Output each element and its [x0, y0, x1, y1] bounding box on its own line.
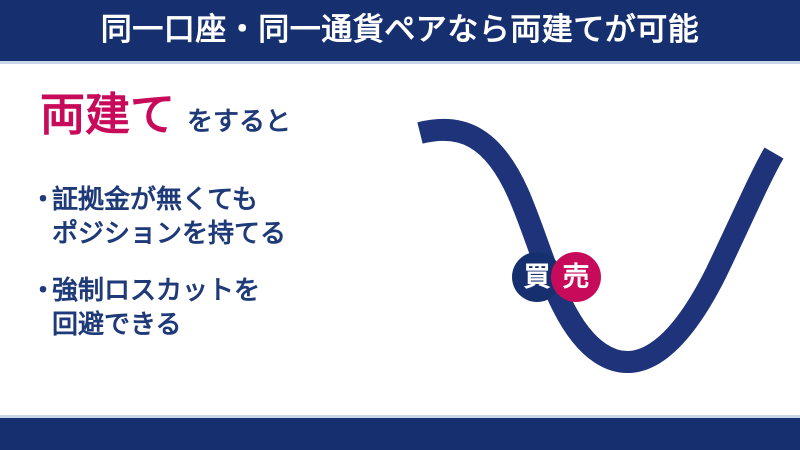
sell-badge-label: 売 [563, 264, 590, 291]
bullet-marker-icon: ・ [30, 274, 52, 308]
lead-heading: 両建て をすると [40, 92, 291, 137]
price-wave-svg [400, 105, 800, 395]
slide-canvas: 同一口座・同一通貨ペアなら両建てが可能 両建て をすると ・ 証拠金が無くても … [0, 0, 800, 450]
header-underline-rule [0, 61, 800, 64]
price-wave-diagram [400, 105, 800, 395]
buy-badge-label: 買 [524, 264, 551, 291]
bullet-text-line: 回避できる [52, 308, 260, 342]
lead-highlight-text: 両建て [40, 92, 175, 137]
price-wave-path [420, 130, 774, 362]
sell-badge[interactable]: 売 [551, 252, 601, 302]
footer-bar [0, 418, 800, 450]
bullet-text-line: 強制ロスカットを [52, 274, 260, 308]
list-item: ・ 証拠金が無くても ポジションを持てる [30, 183, 380, 252]
bullet-marker-icon: ・ [30, 183, 52, 217]
bullet-text-line: ポジションを持てる [52, 217, 286, 251]
page-title: 同一口座・同一通貨ペアなら両建てが可能 [101, 15, 700, 46]
header-bar: 同一口座・同一通貨ペアなら両建てが可能 [0, 0, 800, 61]
bullet-text-line: 証拠金が無くても [52, 183, 286, 217]
lead-tail-text: をすると [187, 109, 291, 135]
list-item: ・ 強制ロスカットを 回避できる [30, 274, 380, 343]
benefit-list: ・ 証拠金が無くても ポジションを持てる ・ 強制ロスカットを 回避できる [30, 183, 380, 364]
